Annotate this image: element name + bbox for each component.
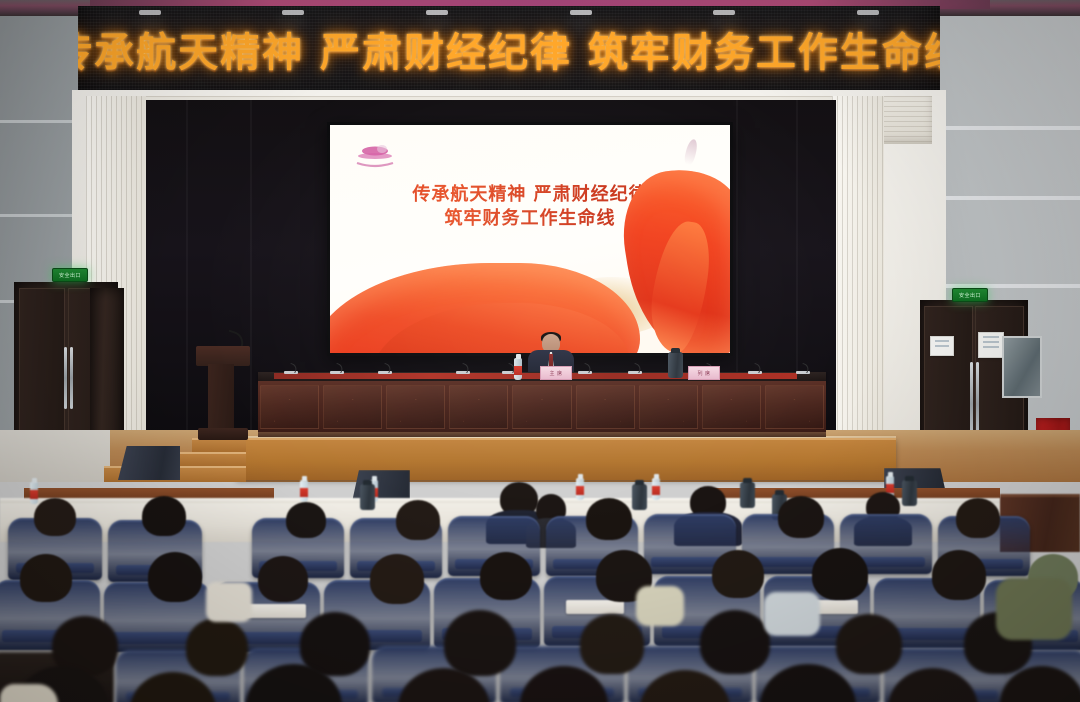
spotlight (282, 10, 304, 15)
podium-column (208, 364, 234, 430)
door-notice (978, 332, 1004, 358)
audience-seating-area (0, 470, 1080, 702)
water-bottle (514, 358, 522, 380)
table-panel (576, 385, 635, 429)
table-panel (765, 385, 824, 429)
podium-lectern (196, 346, 250, 442)
spotlight (139, 10, 161, 15)
exit-sign-right: 安全出口 (952, 288, 988, 302)
seat-tablet-arm[interactable] (566, 600, 624, 614)
wall-service-window (1002, 336, 1042, 398)
podium-base (198, 428, 248, 440)
thermos-flask (668, 352, 683, 378)
nameplate-secondary: 列 席 (688, 366, 720, 380)
table-panel (323, 385, 382, 429)
table-microphone (284, 366, 298, 374)
nameplate-presiding: 主 席 (540, 366, 572, 380)
spotlight (857, 10, 879, 15)
audience-member-light-jacket (636, 586, 684, 626)
projection-screen-frame: 传承航天精神 严肃财经纪律 筑牢财务工作生命线 2024年3月 (327, 122, 733, 356)
table-panel (702, 385, 761, 429)
head-table (258, 372, 826, 438)
spotlight (570, 10, 592, 15)
audience-member-light-jacket (0, 684, 58, 702)
table-microphone (748, 366, 762, 374)
head-table-base (258, 432, 826, 437)
head-table-front-panels (258, 381, 826, 433)
table-panel (260, 385, 319, 429)
led-banner-text: 传承航天精神 严肃财经纪律 筑牢财务工作生命线 (78, 20, 940, 78)
led-banner-panel: 传承航天精神 严肃财经纪律 筑牢财务工作生命线 (78, 6, 940, 95)
exit-sign-left: 安全出口 (52, 268, 88, 282)
table-panel (449, 385, 508, 429)
seat-tablet-arm[interactable] (246, 604, 306, 618)
door-left-inner[interactable] (90, 288, 124, 452)
audience-member-light-jacket (764, 592, 820, 636)
table-panel (512, 385, 571, 429)
door-notice (930, 336, 954, 356)
arch-pillar-right (832, 96, 884, 460)
institution-logo-icon (352, 141, 398, 171)
table-microphone (628, 366, 642, 374)
table-microphone (796, 366, 810, 374)
conference-hall-photo: 传承航天精神 严肃财经纪律 筑牢财务工作生命线 传承航天精神 严肃财经纪律 (0, 0, 1080, 702)
projection-screen: 传承航天精神 严肃财经纪律 筑牢财务工作生命线 2024年3月 (330, 125, 730, 353)
podium-top (196, 346, 250, 366)
spotlight (713, 10, 735, 15)
audience-member-light-jacket (206, 582, 252, 622)
table-panel (386, 385, 445, 429)
table-microphone (330, 366, 344, 374)
table-microphone (378, 366, 392, 374)
table-microphone (578, 366, 592, 374)
audience-member-olive-jacket (996, 578, 1072, 640)
spotlight (426, 10, 448, 15)
table-panel (639, 385, 698, 429)
table-microphone (456, 366, 470, 374)
slide-corner-decoration (683, 138, 699, 166)
